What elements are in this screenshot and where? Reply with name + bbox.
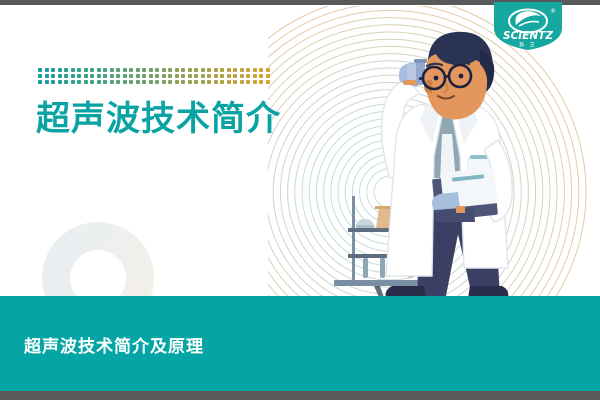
dot-grid-cell xyxy=(181,68,185,72)
dot-grid-cell xyxy=(64,68,68,72)
dot-grid-cell xyxy=(84,68,88,72)
dot-grid-cell xyxy=(51,74,55,78)
dot-grid-cell xyxy=(259,80,263,84)
dot-grid-cell xyxy=(142,74,146,78)
dot-grid-cell xyxy=(259,68,263,72)
dot-grid-cell xyxy=(51,80,55,84)
dot-grid-cell xyxy=(168,68,172,72)
logo-brand-text: SCIENTZ xyxy=(503,30,553,42)
dot-grid-cell xyxy=(181,80,185,84)
dot-grid-cell xyxy=(84,80,88,84)
dot-grid-cell xyxy=(149,74,153,78)
dot-grid-cell xyxy=(155,80,159,84)
dot-grid-cell xyxy=(266,80,270,84)
dot-grid-cell xyxy=(103,74,107,78)
dot-grid-cell xyxy=(194,68,198,72)
slide-canvas: 超声波技术简介 超声波技术简介及原理 SCIENTZ 新 芝 ® xyxy=(0,0,600,400)
dot-grid-cell xyxy=(51,68,55,72)
dot-grid-cell xyxy=(240,68,244,72)
dot-grid-cell xyxy=(116,74,120,78)
dot-grid-cell xyxy=(188,68,192,72)
dot-grid-cell xyxy=(90,74,94,78)
dot-grid-cell xyxy=(123,80,127,84)
dot-grid-cell xyxy=(175,80,179,84)
dot-grid-cell xyxy=(188,80,192,84)
scientz-logo[interactable]: SCIENTZ 新 芝 ® xyxy=(492,2,564,50)
dot-grid-cell xyxy=(227,68,231,72)
dot-grid-cell xyxy=(129,74,133,78)
dot-grid-cell xyxy=(38,74,42,78)
dot-grid-cell xyxy=(103,68,107,72)
dot-grid-cell xyxy=(142,80,146,84)
dot-grid-cell xyxy=(220,68,224,72)
dot-grid-cell xyxy=(58,74,62,78)
dot-grid-cell xyxy=(201,74,205,78)
dot-grid-cell xyxy=(266,68,270,72)
dot-grid-cell xyxy=(155,74,159,78)
dot-grid-cell xyxy=(90,80,94,84)
dot-grid-cell xyxy=(246,80,250,84)
dot-grid-cell xyxy=(162,74,166,78)
dot-grid-cell xyxy=(194,80,198,84)
dot-grid-cell xyxy=(201,80,205,84)
dot-grid-cell xyxy=(259,74,263,78)
dot-grid-cell xyxy=(142,68,146,72)
dot-grid-cell xyxy=(38,80,42,84)
dot-grid-cell xyxy=(64,74,68,78)
dot-grid-cell xyxy=(201,68,205,72)
dot-grid-cell xyxy=(97,74,101,78)
dot-grid-cell xyxy=(123,74,127,78)
footer-band-label: 超声波技术简介及原理 xyxy=(24,332,204,357)
dot-grid-cell xyxy=(90,68,94,72)
dot-grid-cell xyxy=(246,68,250,72)
dot-grid-cell xyxy=(45,68,49,72)
dot-grid-cell xyxy=(181,74,185,78)
dot-grid-cell xyxy=(246,74,250,78)
dot-grid-cell xyxy=(220,74,224,78)
dot-grid-cell xyxy=(45,74,49,78)
dot-grid-cell xyxy=(168,74,172,78)
dot-grid-decoration xyxy=(38,68,270,84)
dot-grid-cell xyxy=(233,80,237,84)
dot-grid-cell xyxy=(240,80,244,84)
dot-grid-cell xyxy=(207,68,211,72)
dot-grid-cell xyxy=(253,80,257,84)
dot-grid-cell xyxy=(129,80,133,84)
dot-grid-cell xyxy=(214,68,218,72)
dot-grid-cell xyxy=(214,80,218,84)
dot-grid-cell xyxy=(194,74,198,78)
dot-grid-cell xyxy=(149,68,153,72)
dot-grid-cell xyxy=(58,68,62,72)
dot-grid-cell xyxy=(175,74,179,78)
dot-grid-cell xyxy=(162,68,166,72)
dot-grid-cell xyxy=(116,68,120,72)
page-title: 超声波技术简介 xyxy=(36,101,281,138)
dot-grid-cell xyxy=(77,74,81,78)
dot-grid-cell xyxy=(71,80,75,84)
dot-grid-cell xyxy=(136,68,140,72)
dot-grid-cell xyxy=(58,80,62,84)
dot-grid-cell xyxy=(227,74,231,78)
dot-grid-cell xyxy=(253,74,257,78)
logo-trademark-symbol: ® xyxy=(550,8,556,15)
dot-grid-cell xyxy=(71,74,75,78)
dot-grid-cell xyxy=(175,68,179,72)
dot-grid-cell xyxy=(253,68,257,72)
dot-grid-cell xyxy=(38,68,42,72)
dot-grid-cell xyxy=(77,68,81,72)
dot-grid-cell xyxy=(233,74,237,78)
dot-grid-cell xyxy=(155,68,159,72)
dot-grid-cell xyxy=(97,80,101,84)
dot-grid-cell xyxy=(240,74,244,78)
dot-grid-cell xyxy=(136,74,140,78)
dot-grid-cell xyxy=(227,80,231,84)
dot-grid-cell xyxy=(45,80,49,84)
dot-grid-cell xyxy=(207,80,211,84)
dot-grid-cell xyxy=(77,80,81,84)
dot-grid-cell xyxy=(233,68,237,72)
scientist-illustration xyxy=(330,28,580,303)
dot-grid-cell xyxy=(110,68,114,72)
dot-grid-cell xyxy=(64,80,68,84)
dot-grid-cell xyxy=(110,74,114,78)
dot-grid-cell xyxy=(214,74,218,78)
dot-grid-cell xyxy=(149,80,153,84)
dot-grid-cell xyxy=(266,74,270,78)
dot-grid-cell xyxy=(116,80,120,84)
dot-grid-cell xyxy=(220,80,224,84)
dot-grid-cell xyxy=(71,68,75,72)
logo-brand-cn-text: 新 芝 xyxy=(519,42,537,49)
dot-grid-cell xyxy=(129,68,133,72)
dot-grid-cell xyxy=(103,80,107,84)
window-bottom-bar xyxy=(0,391,600,400)
dot-grid-cell xyxy=(207,74,211,78)
dot-grid-cell xyxy=(97,68,101,72)
dot-grid-cell xyxy=(123,68,127,72)
dot-grid-cell xyxy=(136,80,140,84)
dot-grid-cell xyxy=(168,80,172,84)
dot-grid-cell xyxy=(110,80,114,84)
dot-grid-cell xyxy=(188,74,192,78)
dot-grid-cell xyxy=(162,80,166,84)
dot-grid-cell xyxy=(84,74,88,78)
